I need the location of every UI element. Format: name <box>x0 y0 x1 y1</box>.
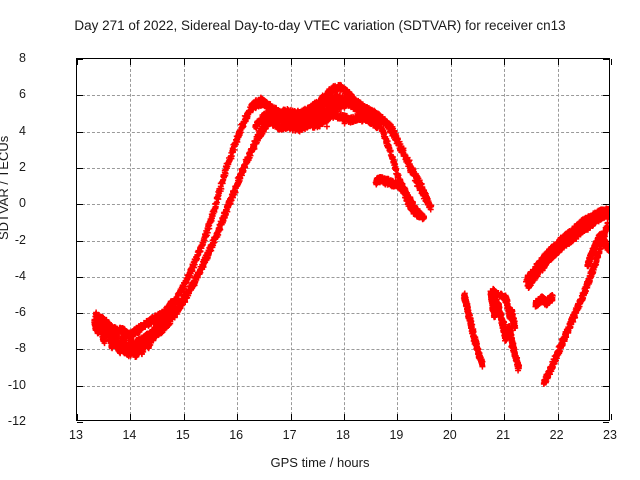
x-tick-top <box>344 59 345 65</box>
x-tick-top <box>291 59 292 65</box>
gridline-horizontal <box>77 168 609 169</box>
x-tick <box>184 414 185 420</box>
data-series <box>132 95 431 349</box>
data-series <box>92 82 423 340</box>
data-series <box>249 91 384 134</box>
x-tick <box>77 414 78 420</box>
gridline-horizontal <box>77 204 609 205</box>
plot-area <box>76 58 610 421</box>
x-tick <box>237 414 238 420</box>
data-series <box>523 205 609 284</box>
gridline-horizontal <box>77 313 609 314</box>
y-tick-right <box>603 277 609 278</box>
y-tick-right <box>603 132 609 133</box>
data-series <box>532 292 555 310</box>
x-tick-label: 13 <box>56 428 96 442</box>
x-tick <box>130 414 131 420</box>
x-tick-top <box>504 59 505 65</box>
y-tick-right <box>603 386 609 387</box>
y-tick <box>77 386 83 387</box>
data-series <box>525 208 609 291</box>
x-tick-label: 18 <box>323 428 363 442</box>
x-tick <box>344 414 345 420</box>
y-tick-right <box>603 349 609 350</box>
x-tick-label: 16 <box>216 428 256 442</box>
data-series <box>541 220 609 387</box>
chart-figure: Day 271 of 2022, Sidereal Day-to-day VTE… <box>0 0 640 480</box>
data-series <box>584 230 609 269</box>
gridline-horizontal <box>77 241 609 242</box>
y-tick-right <box>603 168 609 169</box>
gridline-vertical <box>451 59 452 420</box>
x-tick-label: 21 <box>483 428 523 442</box>
x-tick-label: 17 <box>270 428 310 442</box>
gridline-horizontal <box>77 277 609 278</box>
y-tick-right <box>603 59 609 60</box>
x-tick-label: 20 <box>430 428 470 442</box>
y-tick <box>77 132 83 133</box>
x-tick-top <box>77 59 78 65</box>
y-tick <box>77 241 83 242</box>
x-tick-top <box>451 59 452 65</box>
y-tick-right <box>603 95 609 96</box>
tick-layer <box>77 59 609 420</box>
y-tick-right <box>603 204 609 205</box>
gridline-vertical <box>558 59 559 420</box>
data-series <box>373 174 427 222</box>
y-tick <box>77 95 83 96</box>
x-tick-label: 15 <box>163 428 203 442</box>
gridline-vertical <box>397 59 398 420</box>
y-tick-right <box>603 241 609 242</box>
x-tick-top <box>130 59 131 65</box>
gridline-vertical <box>237 59 238 420</box>
grid-layer <box>77 59 609 420</box>
x-tick <box>558 414 559 420</box>
gridline-horizontal <box>77 95 609 96</box>
data-series <box>91 298 176 360</box>
x-tick-top <box>558 59 559 65</box>
x-tick-top <box>184 59 185 65</box>
gridline-vertical <box>130 59 131 420</box>
x-tick-label: 22 <box>537 428 577 442</box>
x-tick-label: 14 <box>109 428 149 442</box>
y-tick <box>77 204 83 205</box>
data-series <box>488 286 522 374</box>
y-tick <box>77 168 83 169</box>
gridline-horizontal <box>77 386 609 387</box>
gridline-vertical <box>184 59 185 420</box>
x-tick <box>291 414 292 420</box>
data-layer <box>77 59 609 420</box>
x-tick <box>397 414 398 420</box>
y-tick <box>77 349 83 350</box>
y-tick <box>77 313 83 314</box>
gridline-vertical <box>344 59 345 420</box>
x-tick-label: 23 <box>590 428 630 442</box>
y-tick <box>77 59 83 60</box>
gridline-vertical <box>291 59 292 420</box>
y-tick <box>77 277 83 278</box>
x-tick-label: 19 <box>376 428 416 442</box>
x-tick <box>504 414 505 420</box>
x-tick <box>451 414 452 420</box>
gridline-horizontal <box>77 132 609 133</box>
x-tick-top <box>397 59 398 65</box>
y-tick-right <box>603 313 609 314</box>
gridline-horizontal <box>77 349 609 350</box>
data-series <box>111 99 434 359</box>
gridline-vertical <box>504 59 505 420</box>
x-tick-top <box>237 59 238 65</box>
data-series <box>461 290 485 369</box>
